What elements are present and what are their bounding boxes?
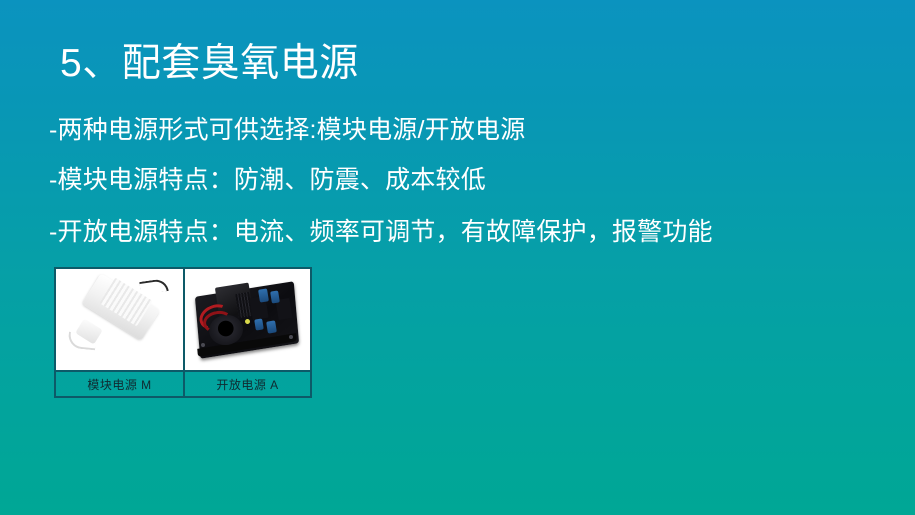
capacitor-c bbox=[254, 318, 264, 330]
body-line-1: -两种电源形式可供选择:模块电源/开放电源 bbox=[49, 114, 525, 146]
picture-table: 模块电源 M 开放电源 A bbox=[54, 267, 312, 398]
caption-open-frame-power-supply: 开放电源 A bbox=[183, 372, 310, 396]
module-power-supply-photo bbox=[56, 269, 183, 370]
mounting-hole-1 bbox=[201, 343, 205, 347]
caption-module-power-supply: 模块电源 M bbox=[56, 372, 183, 396]
module-psu-illustration bbox=[70, 277, 170, 365]
mounting-hole-2 bbox=[289, 335, 293, 339]
presentation-slide: 5、配套臭氧电源 -两种电源形式可供选择:模块电源/开放电源 -模块电源特点：防… bbox=[0, 0, 915, 515]
body-line-2: -模块电源特点：防潮、防震、成本较低 bbox=[49, 164, 486, 196]
page-title: 5、配套臭氧电源 bbox=[60, 40, 359, 88]
open-frame-power-supply-photo bbox=[183, 269, 310, 370]
psu-cord bbox=[139, 278, 169, 295]
open-psu-illustration bbox=[193, 275, 303, 365]
capacitor-d bbox=[266, 320, 277, 333]
body-line-3: -开放电源特点：电流、频率可调节，有故障保护，报警功能 bbox=[49, 216, 713, 248]
table-caption-row: 模块电源 M 开放电源 A bbox=[56, 370, 310, 396]
capacitor-a bbox=[258, 288, 269, 302]
psu-wire bbox=[67, 332, 97, 351]
table-image-row bbox=[56, 269, 310, 370]
capacitor-b bbox=[270, 290, 280, 303]
